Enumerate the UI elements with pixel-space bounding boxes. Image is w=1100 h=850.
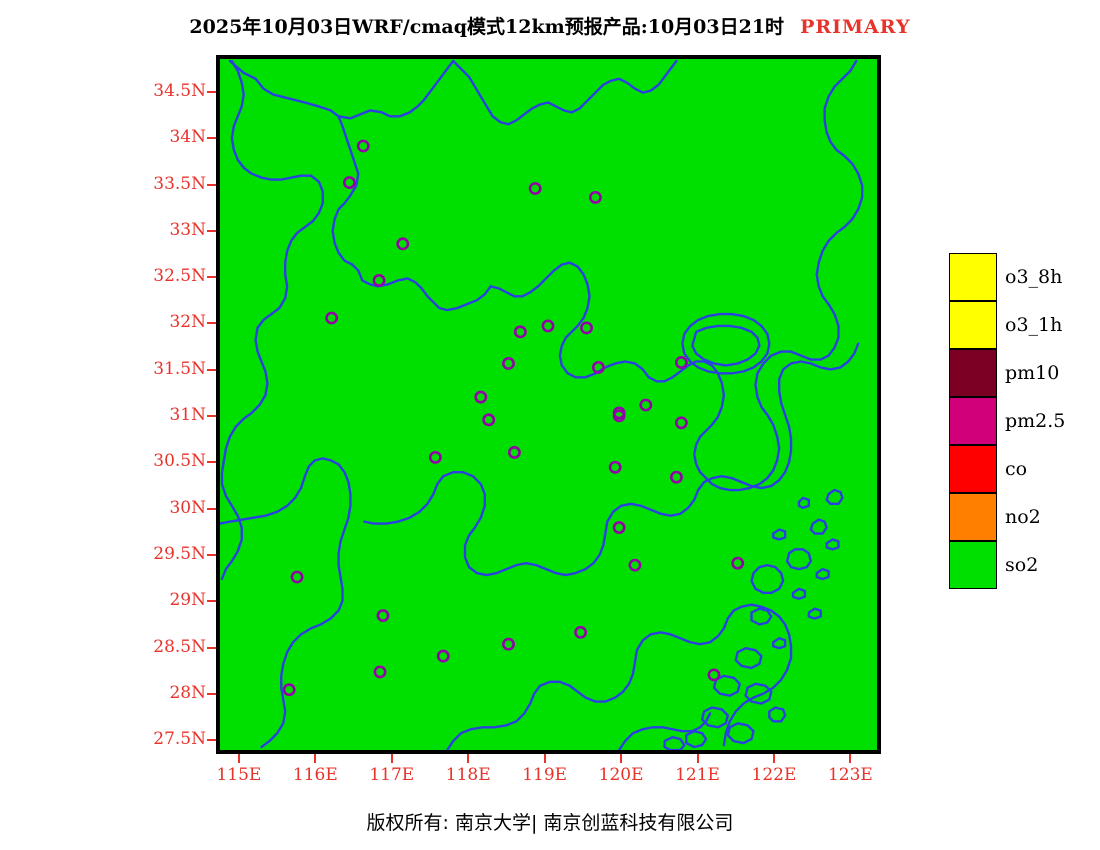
legend-swatch <box>949 493 997 541</box>
y-axis-tick-mark <box>207 693 216 695</box>
x-axis-tick-label: 116E <box>275 765 355 785</box>
y-axis-tick-mark <box>207 91 216 93</box>
x-axis-tick-label: 123E <box>810 765 890 785</box>
legend-swatch <box>949 541 997 589</box>
footer-copyright: 版权所有: 南京大学| 南京创蓝科技有限公司 <box>0 808 1100 835</box>
legend-swatch <box>949 349 997 397</box>
title-primary-badge: PRIMARY <box>800 16 911 38</box>
x-axis-tick-label: 118E <box>428 765 508 785</box>
legend-swatch <box>949 445 997 493</box>
map-graphic <box>220 59 877 750</box>
legend-label: o3_1h <box>1005 314 1062 336</box>
x-axis-tick-mark <box>620 754 622 763</box>
x-axis-tick-label: 117E <box>352 765 432 785</box>
y-axis-tick-mark <box>207 322 216 324</box>
legend-swatch <box>949 301 997 349</box>
legend-item-pm10[interactable]: pm10 <box>949 349 997 397</box>
y-axis-tick-label: 31.5N <box>134 359 206 379</box>
y-axis-tick-mark <box>207 276 216 278</box>
y-axis-tick-label: 30N <box>134 498 206 518</box>
legend-item-o3-8h[interactable]: o3_8h <box>949 253 997 301</box>
x-axis-tick-mark <box>773 754 775 763</box>
y-axis-tick-mark <box>207 508 216 510</box>
legend-item-co[interactable]: co <box>949 445 997 493</box>
y-axis-tick-label: 31N <box>134 405 206 425</box>
y-axis-tick-label: 32N <box>134 312 206 332</box>
y-axis-tick-label: 28N <box>134 683 206 703</box>
legend-label: pm10 <box>1005 362 1059 384</box>
x-axis-tick-mark <box>314 754 316 763</box>
legend-label: o3_8h <box>1005 266 1062 288</box>
y-axis-tick-label: 33.5N <box>134 174 206 194</box>
x-axis-tick-mark <box>697 754 699 763</box>
y-axis-tick-label: 27.5N <box>134 729 206 749</box>
legend-item-no2[interactable]: no2 <box>949 493 997 541</box>
legend-swatch <box>949 253 997 301</box>
y-axis-tick-label: 29.5N <box>134 544 206 564</box>
x-axis-tick-label: 119E <box>505 765 585 785</box>
map-background-layer <box>220 59 877 750</box>
y-axis-tick-mark <box>207 461 216 463</box>
legend-label: so2 <box>1005 554 1038 576</box>
legend-label: no2 <box>1005 506 1041 528</box>
x-axis-tick-label: 122E <box>734 765 814 785</box>
y-axis-tick-label: 30.5N <box>134 451 206 471</box>
y-axis-tick-mark <box>207 600 216 602</box>
y-axis-tick-mark <box>207 184 216 186</box>
x-axis-tick-mark <box>238 754 240 763</box>
legend-item-pm2-5[interactable]: pm2.5 <box>949 397 997 445</box>
page-title: 2025年10月03日WRF/cmaq模式12km预报产品:10月03日21时P… <box>0 12 1100 39</box>
y-axis-tick-mark <box>207 230 216 232</box>
legend-label: pm2.5 <box>1005 410 1065 432</box>
y-axis-tick-mark <box>207 369 216 371</box>
y-axis-tick-label: 32.5N <box>134 266 206 286</box>
x-axis-tick-mark <box>544 754 546 763</box>
map-canvas[interactable] <box>216 55 881 754</box>
title-main-text: 2025年10月03日WRF/cmaq模式12km预报产品:10月03日21时 <box>189 16 784 38</box>
legend-item-o3-1h[interactable]: o3_1h <box>949 301 997 349</box>
y-axis-tick-mark <box>207 415 216 417</box>
y-axis-tick-mark <box>207 554 216 556</box>
x-axis-tick-label: 121E <box>658 765 738 785</box>
x-axis-tick-mark <box>849 754 851 763</box>
x-axis-tick-label: 115E <box>199 765 279 785</box>
legend: o3_8ho3_1hpm10pm2.5cono2so2 <box>949 253 997 589</box>
y-axis-tick-label: 34.5N <box>134 81 206 101</box>
legend-item-so2[interactable]: so2 <box>949 541 997 589</box>
legend-swatch <box>949 397 997 445</box>
y-axis-tick-label: 28.5N <box>134 637 206 657</box>
y-axis-tick-mark <box>207 137 216 139</box>
y-axis-tick-mark <box>207 739 216 741</box>
x-axis-tick-label: 120E <box>581 765 661 785</box>
x-axis-tick-mark <box>391 754 393 763</box>
y-axis-tick-label: 29N <box>134 590 206 610</box>
legend-label: co <box>1005 458 1027 480</box>
y-axis-tick-label: 34N <box>134 127 206 147</box>
y-axis-tick-mark <box>207 647 216 649</box>
x-axis-tick-mark <box>467 754 469 763</box>
y-axis-tick-label: 33N <box>134 220 206 240</box>
